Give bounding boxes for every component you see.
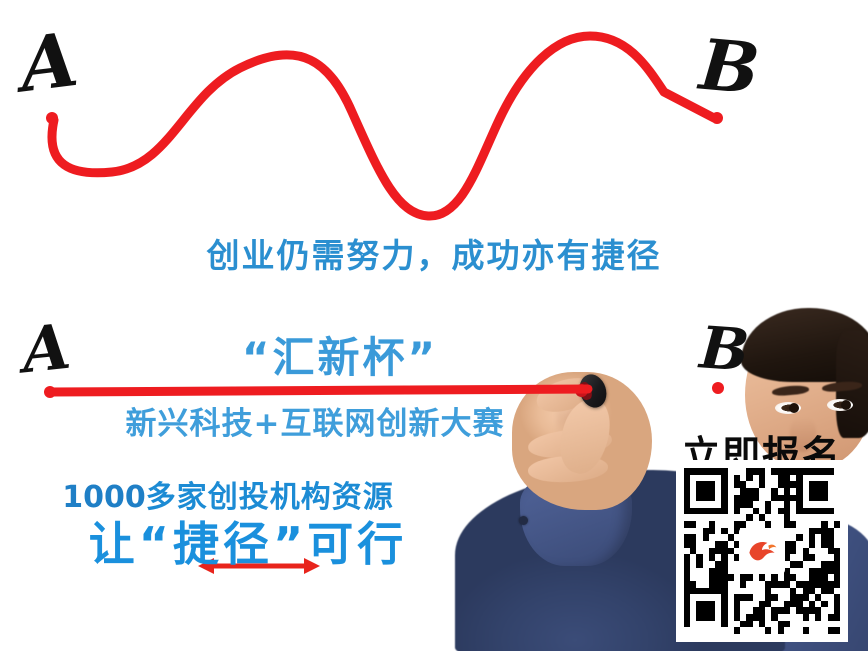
pupil-left <box>789 403 799 413</box>
qr-code-panel[interactable] <box>676 460 848 642</box>
label-b-bottom: B <box>698 318 751 379</box>
label-b-top: B <box>697 30 762 105</box>
collar-button <box>519 516 528 525</box>
bird-icon <box>744 533 780 569</box>
qr-code[interactable] <box>684 468 840 634</box>
tagline: 创业仍需努力，成功亦有捷径 <box>0 229 868 277</box>
pupil-right <box>841 400 851 410</box>
red-bird-logo <box>739 528 785 574</box>
label-a-top: A <box>16 23 82 103</box>
competition-title: “汇新杯” <box>120 324 560 385</box>
poster-canvas: A B A B 创业仍需努力，成功亦有捷径 “汇新杯” 新兴科技+互联网创新大赛… <box>0 0 868 651</box>
shortcut-line: 让“捷径”可行 <box>18 508 478 574</box>
marker-tip <box>575 384 588 397</box>
label-a-bottom: A <box>19 316 73 383</box>
competition-subtitle: 新兴科技+互联网创新大赛 <box>80 398 550 443</box>
